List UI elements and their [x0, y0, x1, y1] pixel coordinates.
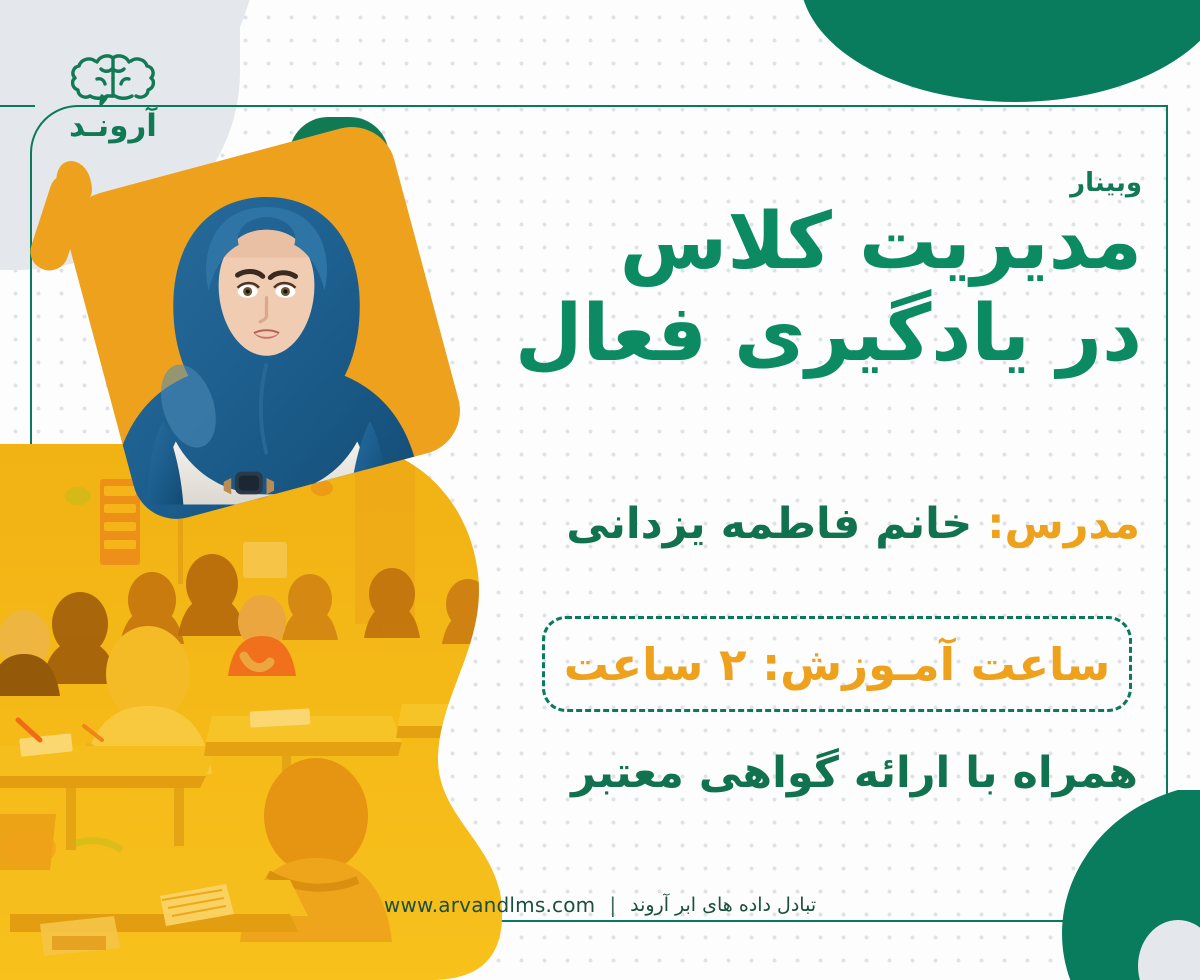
duration-text: ساعت آمـوزش: ۲ ساعت [564, 638, 1110, 691]
footer-website[interactable]: www.arvandlms.com [384, 893, 595, 917]
footer: تبادل داده های ابر آروند | www.arvandlms… [0, 893, 1200, 917]
brand-logo: آرونـد [48, 52, 178, 144]
frame-top-extension [0, 105, 35, 107]
page-title: مدیریت کلاس در یادگیری فعال [530, 196, 1142, 380]
poster-content: وبینار مدیریت کلاس در یادگیری فعال مدرس:… [522, 0, 1142, 980]
instructor-name: خانم فاطمه یزدانی [566, 499, 972, 549]
brand-name: آرونـد [48, 108, 178, 144]
instructor-label: مدرس: [987, 499, 1140, 549]
instructor-line: مدرس: خانم فاطمه یزدانی [566, 498, 1140, 552]
duration-badge: ساعت آمـوزش: ۲ ساعت [542, 616, 1132, 712]
title-line-2: در یادگیری فعال [530, 288, 1142, 380]
footer-tagline: تبادل داده های ابر آروند [630, 894, 816, 916]
certificate-note: همراه با ارائه گواهی معتبر [571, 748, 1138, 798]
webinar-poster: آرونـد [0, 0, 1200, 980]
kicker-label: وبینار [1070, 168, 1142, 198]
title-line-1: مدیریت کلاس [530, 196, 1142, 288]
brain-icon [48, 52, 178, 110]
footer-separator: | [609, 893, 616, 917]
